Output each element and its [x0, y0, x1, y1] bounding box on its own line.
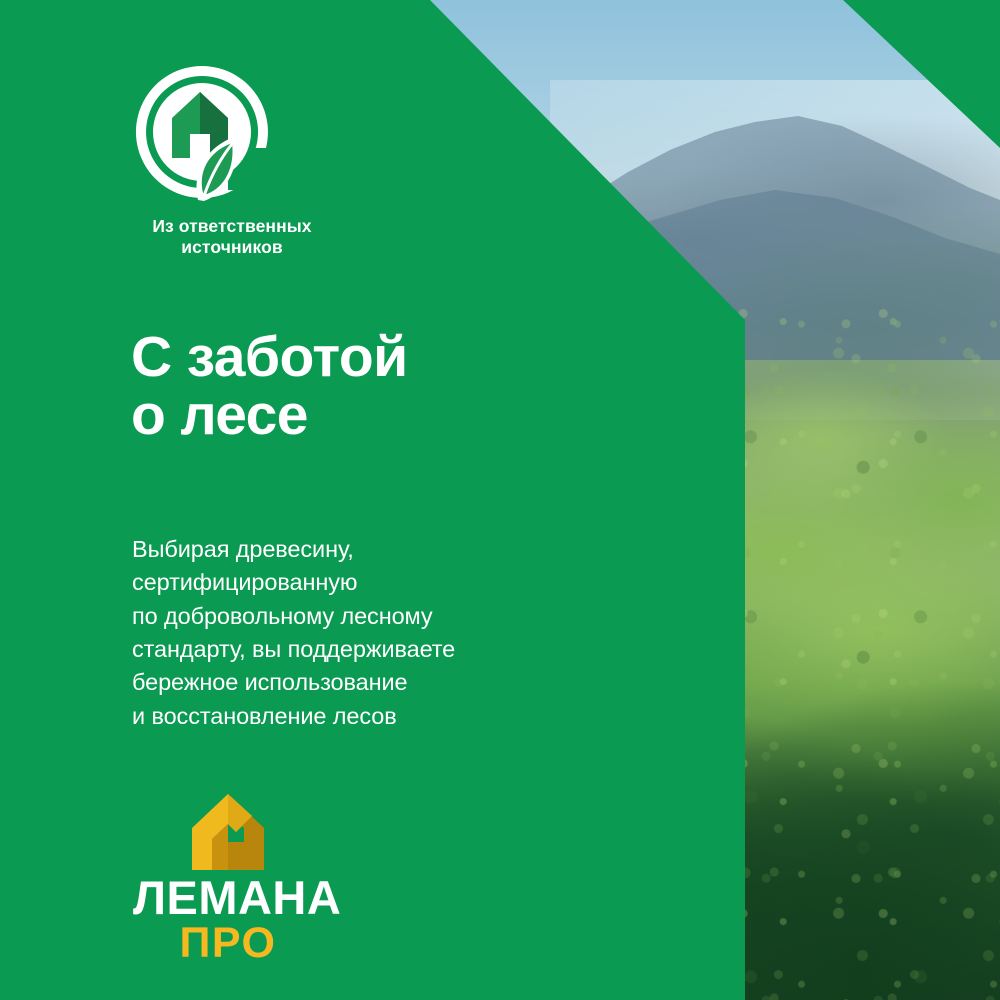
- house-leaf-circle-icon: [132, 62, 272, 202]
- responsible-sources-caption: Из ответственных источников: [132, 216, 332, 259]
- responsible-sources-mark: Из ответственных источников: [132, 62, 432, 259]
- body-copy: Выбирая древесину, сертифицированную по …: [132, 533, 455, 733]
- poster-content: Из ответственных источников С заботой о …: [0, 0, 1000, 1000]
- brand-subname: ПРО: [133, 922, 323, 964]
- house-roof-icon: [188, 792, 268, 870]
- brand-name: ЛЕМАНА: [133, 875, 323, 920]
- brand-lockup: ЛЕМАНА ПРО: [133, 792, 323, 964]
- poster-canvas: Из ответственных источников С заботой о …: [0, 0, 1000, 1000]
- page-title: С заботой о лесе: [131, 328, 408, 444]
